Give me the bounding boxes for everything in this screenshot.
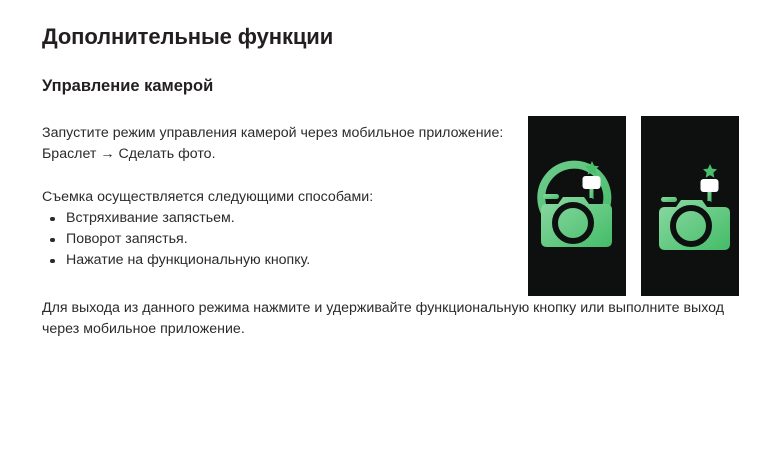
list-item-label: Встряхивание запястьем. — [66, 210, 235, 226]
page-title: Дополнительные функции — [42, 24, 750, 50]
bullet-dot-icon — [50, 238, 55, 243]
list-item-label: Нажатие на функциональную кнопку. — [66, 252, 310, 268]
camera-gesture-icon — [528, 116, 626, 296]
bullet-dot-icon — [50, 217, 55, 222]
illustration-camera-plain — [641, 116, 739, 296]
camera-icon — [641, 116, 739, 296]
methods-lead: Съемка осуществляется следующими способа… — [42, 165, 512, 208]
bullet-dot-icon — [50, 259, 55, 264]
page-root: Дополнительные функции Управление камеро… — [0, 0, 782, 476]
illustration-camera-gesture — [528, 116, 626, 296]
list-item-label: Поворот запястья. — [66, 231, 188, 247]
flash-icon — [701, 179, 719, 192]
intro-paragraph: Запустите режим управления камерой через… — [42, 97, 512, 165]
section-title: Управление камерой — [42, 50, 750, 97]
flash-icon — [583, 176, 601, 189]
sparkle-star-icon — [703, 164, 717, 178]
